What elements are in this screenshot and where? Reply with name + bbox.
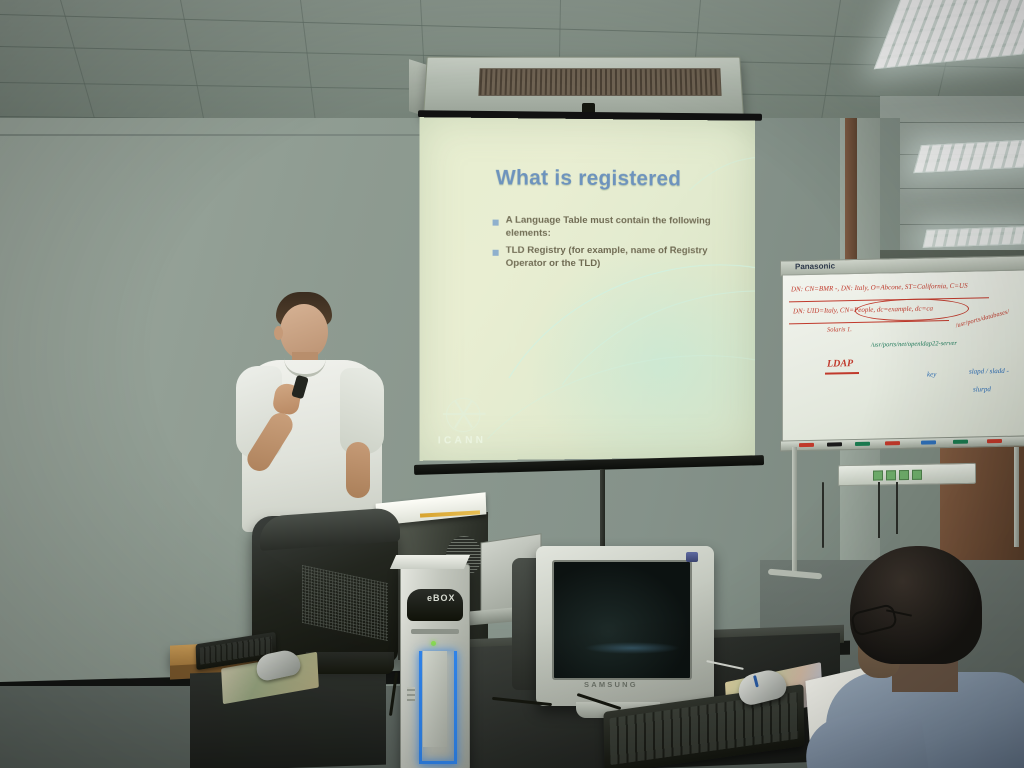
whiteboard-print-button[interactable] [873, 470, 883, 480]
tower-top-surface [390, 555, 470, 569]
optical-drive-bay[interactable]: eBOX [407, 589, 463, 621]
classroom-photo-scene: What is registered A Language Table must… [0, 0, 1024, 768]
floppy-drive-slot[interactable] [411, 629, 459, 634]
icann-logo: ICANN [438, 397, 515, 446]
globe-equator-line [443, 413, 486, 415]
whiteboard-control-panel[interactable] [838, 463, 976, 486]
whiteboard-leg [792, 447, 797, 575]
seated-attendee [836, 546, 1024, 768]
slide-bullet-text: TLD Registry (for example, name of Regis… [506, 245, 742, 270]
whiteboard-note: slurpd [973, 385, 991, 393]
whiteboard-note: LDAP [827, 358, 853, 370]
monitor-rear-casing [512, 558, 538, 690]
whiteboard-note: Solaris 1. [827, 326, 852, 334]
whiteboard-cable [822, 482, 824, 548]
wooden-post [845, 118, 857, 278]
screen-glare [584, 642, 680, 654]
projected-slide: What is registered A Language Table must… [419, 117, 755, 461]
whiteboard-note: slapd / sladd - [969, 367, 1009, 376]
samsung-crt-monitor: SAMSUNG [536, 546, 714, 724]
whiteboard-brand-label: Panasonic [795, 261, 835, 271]
marker-icon [987, 438, 1002, 442]
whiteboard-note: key [927, 370, 936, 378]
projection-screen: What is registered A Language Table must… [414, 112, 766, 482]
presenter-person [228, 292, 398, 532]
globe-icon [446, 398, 480, 433]
blue-led-strip [419, 761, 457, 764]
slide-bullet-item: TLD Registry (for example, name of Regis… [493, 245, 742, 270]
slide-bullet-text: A Language Table must contain the follow… [506, 215, 742, 241]
slide-title: What is registered [419, 166, 755, 192]
crt-monitor-base [306, 652, 394, 674]
ceiling-light-fixture [923, 226, 1024, 248]
monitor-screen [552, 560, 692, 680]
usb-port-icon[interactable] [407, 687, 415, 701]
whiteboard-leg [1014, 447, 1019, 547]
presenter-arm [346, 442, 370, 498]
power-led-icon [431, 641, 436, 646]
whiteboard-cable [878, 482, 880, 538]
slide-bullet-item: A Language Table must contain the follow… [493, 215, 742, 241]
monitor-bezel: SAMSUNG [536, 546, 714, 706]
bullet-square-icon [493, 250, 499, 256]
attendee-hair [850, 546, 982, 664]
ebox-computer-tower: eBOX [400, 564, 470, 768]
presenter-sleeve [340, 368, 384, 454]
marker-icon [885, 441, 900, 445]
tower-front-panel [423, 651, 447, 747]
crt-vent-grille [302, 565, 388, 641]
presenter-ear [274, 326, 283, 340]
monitor-brand-label: SAMSUNG [584, 680, 638, 689]
monitor-badge-icon [686, 552, 698, 562]
marker-icon [799, 442, 814, 446]
marker-icon [827, 442, 842, 446]
marker-icon [921, 440, 936, 444]
ac-vent-louvers [478, 68, 721, 96]
marker-icon [855, 441, 870, 445]
bullet-square-icon [493, 220, 499, 226]
whiteboard-surface: DN: CN=BMR -, DN: Italy, O=Abcone, ST=Ca… [782, 269, 1024, 444]
whiteboard-cable [896, 482, 898, 534]
wall-seam [0, 134, 420, 136]
tower-brand-label: eBOX [427, 593, 456, 603]
icann-logo-text: ICANN [438, 435, 515, 447]
marker-icon [953, 439, 968, 443]
mouse-scroll-wheel[interactable] [753, 675, 759, 687]
whiteboard-note: DN: CN=BMR -, DN: Italy, O=Abcone, ST=Ca… [791, 282, 968, 294]
whiteboard-power-button[interactable] [912, 469, 922, 479]
whiteboard-note: /usr/ports/net/openldap22-server [871, 340, 957, 349]
whiteboard-copy-button[interactable] [899, 469, 909, 479]
whiteboard-scroll-button[interactable] [886, 470, 896, 480]
whiteboard: Panasonic DN: CN=BMR -, DN: Italy, O=Abc… [778, 258, 1024, 458]
ceiling-light-fixture [913, 139, 1024, 173]
slide-bullet-list: A Language Table must contain the follow… [493, 215, 742, 276]
